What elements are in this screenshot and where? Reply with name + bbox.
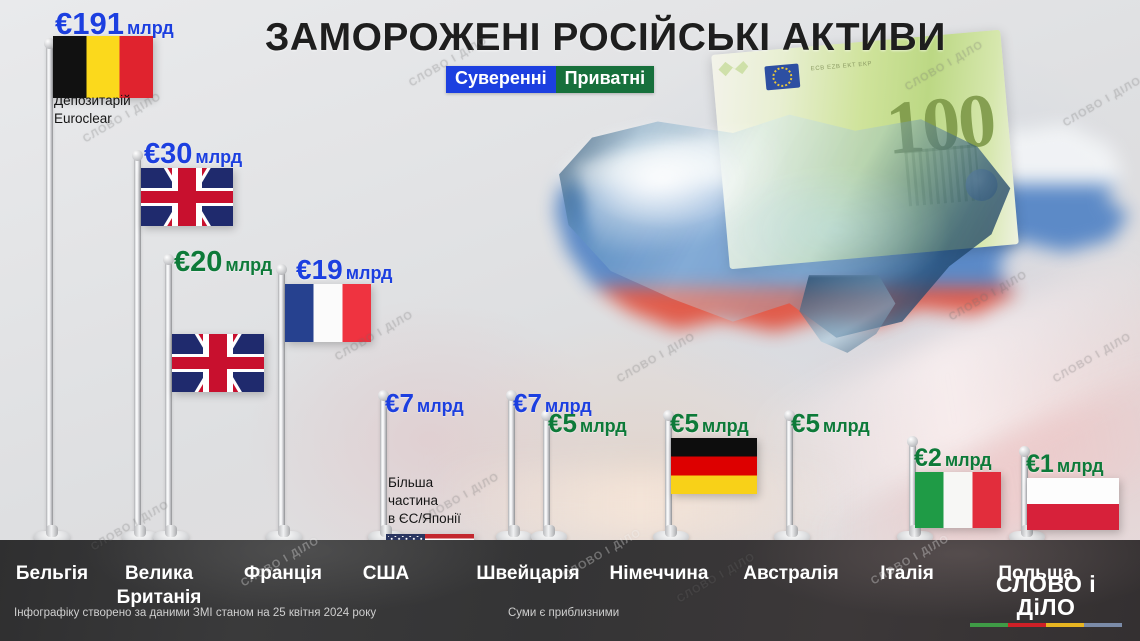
amount-germany-value: €5 — [670, 408, 699, 438]
amount-uk-sovereign: €30млрд — [144, 140, 242, 169]
brand-logo-color-bar — [970, 623, 1122, 627]
amount-france: €19млрд — [296, 256, 392, 284]
note-usa-line1: Більша — [388, 474, 461, 492]
country-label-italy: Італія — [880, 562, 934, 586]
amount-australia: €5млрд — [791, 410, 870, 437]
amount-germany-unit: млрд — [702, 416, 749, 436]
amount-france-unit: млрд — [346, 263, 393, 283]
country-label-usa-line1: США — [363, 563, 410, 584]
source-note: Інфографіку створено за даними ЗМІ стано… — [14, 607, 376, 619]
country-label-usa: США — [363, 562, 410, 586]
amount-swiss-private-unit: млрд — [580, 416, 627, 436]
amount-italy-unit: млрд — [945, 450, 992, 470]
page-title: ЗАМОРОЖЕНІ РОСІЙСЬКІ АКТИВИ — [265, 16, 885, 60]
country-label-uk: Велика Британія — [117, 562, 202, 610]
country-label-italy-line1: Італія — [880, 563, 934, 584]
amount-usa-unit: млрд — [417, 396, 464, 416]
legend-item-sovereign[interactable]: Суверенні — [446, 66, 556, 93]
flagpole-belgium — [46, 46, 53, 540]
flagpole-swiss-sov — [508, 398, 515, 540]
amount-poland: €1млрд — [1026, 452, 1104, 477]
note-belgium: Депозитарій Euroclear — [54, 92, 131, 128]
amount-france-value: €19 — [296, 254, 343, 285]
amount-usa-value: €7 — [385, 388, 414, 418]
note-usa-line3: в ЄС/Японії — [388, 510, 461, 528]
note-belgium-line2: Euroclear — [54, 110, 131, 128]
country-label-uk-line2: Британія — [117, 587, 202, 608]
country-label-uk-line1: Велика — [125, 563, 193, 584]
amount-belgium: €191млрд — [55, 8, 174, 39]
amount-uk-private: €20млрд — [174, 248, 272, 277]
amount-belgium-unit: млрд — [127, 18, 174, 38]
flagpole-france — [278, 272, 285, 540]
flag-italy — [915, 472, 1001, 528]
amount-italy: €2млрд — [914, 446, 992, 471]
note-usa-line2: частина — [388, 492, 461, 510]
hero-artwork: ECB EZB EKT EKP 100 — [545, 80, 1130, 390]
banknote-caption: ECB EZB EKT EKP — [811, 61, 873, 72]
amount-australia-unit: млрд — [823, 416, 870, 436]
flag-germany — [671, 438, 757, 494]
country-label-australia-line1: Австралія — [743, 563, 838, 584]
country-label-swiss-line1: Швейцарія — [476, 563, 579, 584]
flag-uk-private — [172, 334, 264, 392]
country-label-belgium: Бельгія — [16, 562, 88, 586]
country-label-france: Франція — [244, 562, 322, 586]
flag-poland — [1027, 478, 1119, 530]
amount-swiss-private: €5млрд — [548, 410, 627, 437]
country-label-germany-line1: Німеччина — [610, 563, 709, 584]
axis-bar: Бельгія Велика Британія Франція США Швей… — [0, 540, 1140, 641]
flagpole-uk-private — [165, 262, 172, 540]
flag-uk-sovereign — [141, 168, 233, 226]
country-label-belgium-line1: Бельгія — [16, 563, 88, 584]
amount-uk-sovereign-unit: млрд — [195, 147, 242, 167]
flag-france — [285, 284, 371, 342]
amount-swiss-private-value: €5 — [548, 408, 577, 438]
flagpole-uk-sovereign — [134, 158, 141, 540]
country-label-swiss: Швейцарія — [476, 562, 579, 586]
amount-uk-private-value: €20 — [174, 246, 222, 278]
amount-usa: €7млрд — [385, 390, 464, 417]
eu-flag-emblem — [764, 63, 800, 90]
amount-uk-private-unit: млрд — [225, 255, 272, 275]
note-usa: Більша частина в ЄС/Японії — [388, 474, 461, 527]
country-label-australia: Австралія — [743, 562, 838, 586]
amount-australia-value: €5 — [791, 408, 820, 438]
banknote-wave — [718, 60, 751, 98]
amount-poland-value: €1 — [1026, 450, 1054, 478]
infographic-canvas: ECB EZB EKT EKP 100 ЗАМОРОЖЕНІ РОСІЙСЬКІ… — [0, 0, 1140, 641]
note-belgium-line1: Депозитарій — [54, 92, 131, 110]
legend: Суверенні Приватні — [446, 66, 654, 93]
disclaimer-note: Суми є приблизними — [508, 607, 619, 619]
country-label-germany: Німеччина — [610, 562, 709, 586]
brand-logo-text: СЛОВО і ДіЛО — [970, 573, 1122, 619]
brand-logo[interactable]: СЛОВО і ДіЛО — [970, 573, 1122, 627]
legend-item-private[interactable]: Приватні — [556, 66, 655, 93]
amount-uk-sovereign-value: €30 — [144, 138, 192, 170]
amount-germany: €5млрд — [670, 410, 749, 437]
amount-swiss-sovereign-value: €7 — [513, 388, 542, 418]
amount-italy-value: €2 — [914, 444, 942, 472]
flag-belgium — [53, 36, 153, 98]
country-label-france-line1: Франція — [244, 563, 322, 584]
amount-poland-unit: млрд — [1057, 456, 1104, 476]
flagpole-usa — [380, 398, 387, 540]
